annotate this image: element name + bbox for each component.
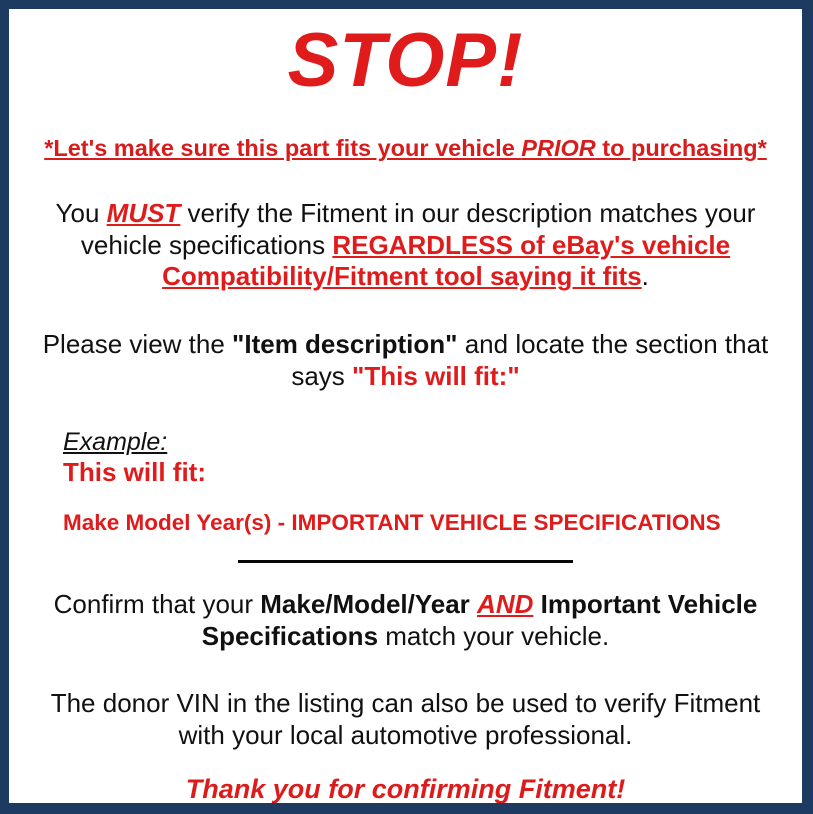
vin-paragraph: The donor VIN in the listing can also be… <box>9 688 802 751</box>
must-part-1: You <box>56 198 107 228</box>
example-spec-line: Make Model Year(s) - IMPORTANT VEHICLE S… <box>63 510 802 536</box>
must-verify-paragraph: You MUST verify the Fitment in our descr… <box>9 198 802 293</box>
must-emphasis: MUST <box>107 198 181 228</box>
confirm-part-3 <box>533 589 540 619</box>
item-description-emphasis: "Item description" <box>232 329 457 359</box>
make-model-year-emphasis: Make/Model/Year <box>260 589 470 619</box>
tagline: *Let's make sure this part fits your veh… <box>9 135 802 162</box>
tagline-lead: *Let's make sure this part fits your veh… <box>44 135 521 161</box>
example-fit-heading: This will fit: <box>63 458 802 488</box>
section-divider <box>238 560 573 563</box>
tagline-emphasis-prior: PRIOR <box>521 135 595 161</box>
confirm-part-4: match your vehicle. <box>378 621 609 651</box>
page-title: STOP! <box>9 23 802 99</box>
confirm-paragraph: Confirm that your Make/Model/Year AND Im… <box>9 589 802 652</box>
view-part-1: Please view the <box>43 329 232 359</box>
example-block: Example: This will fit: Make Model Year(… <box>9 429 802 536</box>
divider-wrap <box>9 560 802 563</box>
thanks-message: Thank you for confirming Fitment! <box>9 774 802 803</box>
and-emphasis: AND <box>477 589 533 619</box>
notice-sheet: STOP! *Let's make sure this part fits yo… <box>9 9 802 803</box>
example-label: Example: <box>63 429 802 457</box>
confirm-part-2 <box>470 589 477 619</box>
tagline-tail: to purchasing* <box>596 135 767 161</box>
fitment-notice-banner: STOP! *Let's make sure this part fits yo… <box>0 0 813 814</box>
must-part-3: . <box>642 261 649 291</box>
item-description-paragraph: Please view the "Item description" and l… <box>9 329 802 392</box>
this-will-fit-emphasis: "This will fit:" <box>352 361 520 391</box>
confirm-part-1: Confirm that your <box>54 589 261 619</box>
